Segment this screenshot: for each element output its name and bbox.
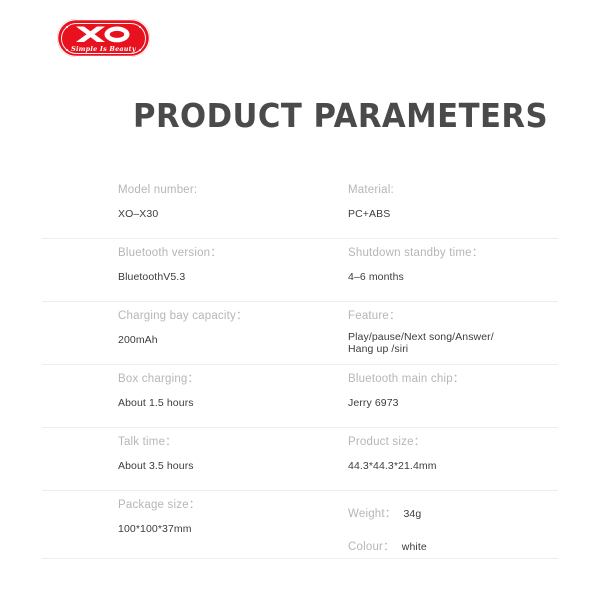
- spec-cell-material: Material: PC+ABS: [306, 176, 558, 238]
- spec-cell-weight-colour: Weight： 34g Colour： white: [306, 491, 558, 558]
- table-row: Box charging： About 1.5 hours Bluetooth …: [42, 365, 558, 428]
- spec-label: Charging bay capacity：: [118, 309, 306, 323]
- specification-table: Model number: XO–X30 Material: PC+ABS Bl…: [42, 176, 558, 559]
- spec-value: 4–6 months: [348, 271, 558, 284]
- table-row: Charging bay capacity： 200mAh Feature： P…: [42, 302, 558, 365]
- spec-value: XO–X30: [118, 208, 306, 221]
- table-row: Package size： 100*100*37mm Weight： 34g C…: [42, 491, 558, 559]
- spec-pair-weight: Weight： 34g: [348, 505, 558, 521]
- spec-label: Product size：: [348, 435, 558, 449]
- spec-value: About 3.5 hours: [118, 460, 306, 473]
- spec-value: About 1.5 hours: [118, 397, 306, 410]
- spec-label: Bluetooth main chip：: [348, 372, 558, 386]
- spec-label: Material:: [348, 183, 558, 197]
- table-row: Model number: XO–X30 Material: PC+ABS: [42, 176, 558, 239]
- spec-cell-shutdown-standby-time: Shutdown standby time： 4–6 months: [306, 239, 558, 301]
- spec-value: 44.3*44.3*21.4mm: [348, 460, 558, 473]
- spec-cell-product-size: Product size： 44.3*44.3*21.4mm: [306, 428, 558, 490]
- spec-value: 34g: [403, 508, 421, 520]
- spec-label: Weight：: [348, 505, 396, 521]
- xo-monogram-icon: [57, 24, 150, 44]
- spec-cell-bluetooth-main-chip: Bluetooth main chip： Jerry 6973: [306, 365, 558, 427]
- brand-tagline: Simple Is Beauty: [57, 46, 150, 52]
- spec-label: Colour：: [348, 538, 395, 554]
- inline-pair-list: Weight： 34g Colour： white: [348, 498, 558, 554]
- product-parameters-page: Simple Is Beauty PRODUCT PARAMETERS Mode…: [0, 0, 600, 600]
- table-row: Bluetooth version： BluetoothV5.3 Shutdow…: [42, 239, 558, 302]
- spec-value: 100*100*37mm: [118, 523, 306, 536]
- spec-value: white: [402, 541, 427, 553]
- spec-cell-talk-time: Talk time： About 3.5 hours: [42, 428, 306, 490]
- spec-value: Jerry 6973: [348, 397, 558, 410]
- spec-pair-colour: Colour： white: [348, 538, 558, 554]
- spec-label: Feature：: [348, 309, 558, 323]
- spec-value: PC+ABS: [348, 208, 558, 221]
- spec-cell-feature: Feature： Play/pause/Next song/Answer/ Ha…: [306, 302, 558, 364]
- spec-cell-model-number: Model number: XO–X30: [42, 176, 306, 238]
- spec-label: Shutdown standby time：: [348, 246, 558, 260]
- spec-label: Package size：: [118, 498, 306, 512]
- spec-value: BluetoothV5.3: [118, 271, 306, 284]
- spec-value: 200mAh: [118, 334, 306, 347]
- spec-label: Model number:: [118, 183, 306, 197]
- spec-cell-package-size: Package size： 100*100*37mm: [42, 491, 306, 558]
- spec-label: Box charging：: [118, 372, 306, 386]
- spec-value: Play/pause/Next song/Answer/ Hang up /si…: [348, 332, 558, 356]
- spec-cell-charging-bay-capacity: Charging bay capacity： 200mAh: [42, 302, 306, 364]
- spec-cell-bluetooth-version: Bluetooth version： BluetoothV5.3: [42, 239, 306, 301]
- page-title: PRODUCT PARAMETERS: [133, 99, 548, 132]
- spec-label: Talk time：: [118, 435, 306, 449]
- xo-brand-logo: Simple Is Beauty: [57, 19, 150, 57]
- spec-cell-box-charging: Box charging： About 1.5 hours: [42, 365, 306, 427]
- spec-label: Bluetooth version：: [118, 246, 306, 260]
- table-row: Talk time： About 3.5 hours Product size：…: [42, 428, 558, 491]
